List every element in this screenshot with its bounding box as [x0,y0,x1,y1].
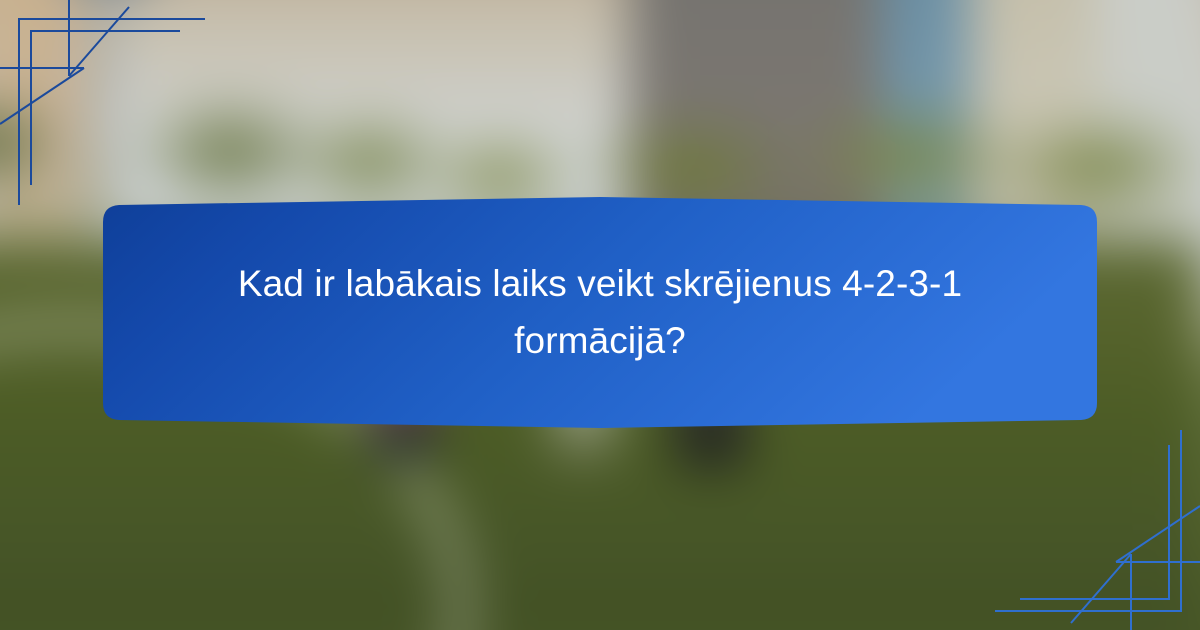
question-card: Kad ir labākais laiks veikt skrējienus 4… [100,190,1100,435]
question-card-text-area: Kad ir labākais laiks veikt skrējienus 4… [100,190,1100,435]
question-title: Kad ir labākais laiks veikt skrējienus 4… [235,256,965,368]
share-card-canvas: Kad ir labākais laiks veikt skrējienus 4… [0,0,1200,630]
